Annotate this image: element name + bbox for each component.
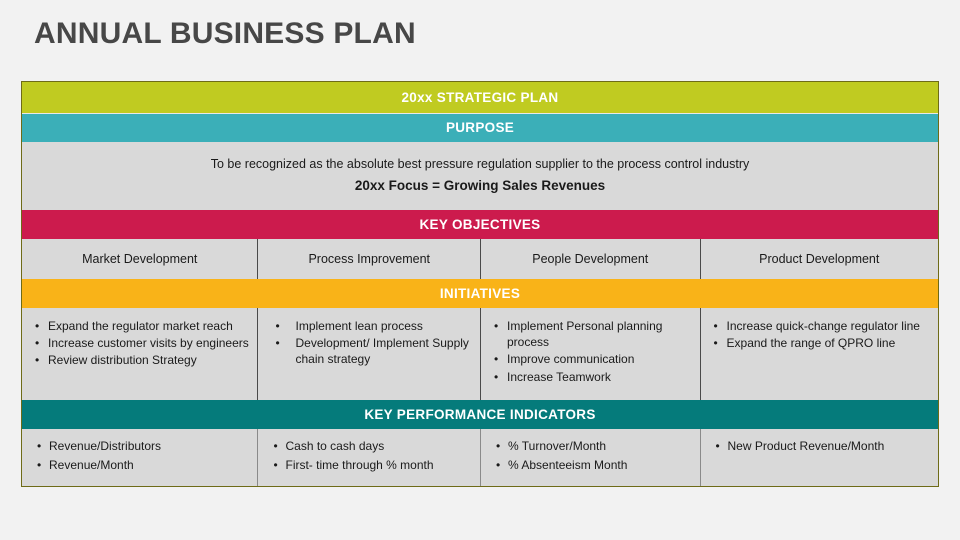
purpose-header: PURPOSE bbox=[22, 114, 938, 142]
list-item: Improve communication bbox=[491, 351, 692, 367]
initiatives-cell-market-development: Expand the regulator market reach Increa… bbox=[22, 308, 258, 400]
initiatives-cell-people-development: Implement Personal planning process Impr… bbox=[481, 308, 701, 400]
list-item: Revenue/Month bbox=[32, 457, 249, 473]
kpi-list-4: New Product Revenue/Month bbox=[711, 438, 930, 454]
list-item: Cash to cash days bbox=[268, 438, 472, 454]
list-item: % Absenteeism Month bbox=[491, 457, 692, 473]
kpi-row: Revenue/Distributors Revenue/Month Cash … bbox=[22, 429, 938, 486]
initiatives-cell-product-development: Increase quick-change regulator line Exp… bbox=[701, 308, 938, 400]
kpi-cell-product-development: New Product Revenue/Month bbox=[701, 429, 938, 486]
page-title: ANNUAL BUSINESS PLAN bbox=[34, 17, 416, 50]
kpi-list-3: % Turnover/Month % Absenteeism Month bbox=[491, 438, 692, 473]
list-item: Increase Teamwork bbox=[491, 369, 692, 385]
list-item: Revenue/Distributors bbox=[32, 438, 249, 454]
key-objectives-row: Market Development Process Improvement P… bbox=[22, 239, 938, 279]
objective-cell-product-development: Product Development bbox=[701, 239, 938, 279]
initiatives-header: INITIATIVES bbox=[22, 279, 938, 308]
key-performance-indicators-header: KEY PERFORMANCE INDICATORS bbox=[22, 400, 938, 429]
list-item: First- time through % month bbox=[268, 457, 472, 473]
list-item: Implement Personal planning process bbox=[491, 318, 692, 350]
objective-cell-process-improvement: Process Improvement bbox=[258, 239, 481, 279]
kpi-cell-market-development: Revenue/Distributors Revenue/Month bbox=[22, 429, 258, 486]
strategic-plan-header: 20xx STRATEGIC PLAN bbox=[22, 82, 938, 114]
list-item: Increase quick-change regulator line bbox=[711, 318, 930, 334]
key-objectives-header: KEY OBJECTIVES bbox=[22, 210, 938, 239]
initiatives-cell-process-improvement: Implement lean process Development/ Impl… bbox=[258, 308, 481, 400]
list-item: Implement lean process bbox=[268, 318, 472, 334]
list-item: Expand the range of QPRO line bbox=[711, 335, 930, 351]
annual-business-plan-table: 20xx STRATEGIC PLAN PURPOSE To be recogn… bbox=[21, 81, 939, 487]
slide-canvas: ANNUAL BUSINESS PLAN 20xx STRATEGIC PLAN… bbox=[0, 0, 960, 540]
initiatives-list-2: Implement lean process Development/ Impl… bbox=[268, 318, 472, 368]
purpose-statement: To be recognized as the absolute best pr… bbox=[42, 155, 918, 174]
initiatives-row: Expand the regulator market reach Increa… bbox=[22, 308, 938, 400]
objective-cell-people-development: People Development bbox=[481, 239, 701, 279]
purpose-focus: 20xx Focus = Growing Sales Revenues bbox=[42, 176, 918, 196]
list-item: Expand the regulator market reach bbox=[32, 318, 249, 334]
list-item: Development/ Implement Supply chain stra… bbox=[268, 335, 472, 367]
list-item: New Product Revenue/Month bbox=[711, 438, 930, 454]
kpi-list-1: Revenue/Distributors Revenue/Month bbox=[32, 438, 249, 473]
list-item: Increase customer visits by engineers bbox=[32, 335, 249, 351]
initiatives-list-1: Expand the regulator market reach Increa… bbox=[32, 318, 249, 369]
initiatives-list-4: Increase quick-change regulator line Exp… bbox=[711, 318, 930, 351]
list-item: Review distribution Strategy bbox=[32, 352, 249, 368]
initiatives-list-3: Implement Personal planning process Impr… bbox=[491, 318, 692, 385]
kpi-list-2: Cash to cash days First- time through % … bbox=[268, 438, 472, 473]
objective-cell-market-development: Market Development bbox=[22, 239, 258, 279]
kpi-cell-process-improvement: Cash to cash days First- time through % … bbox=[258, 429, 481, 486]
purpose-body: To be recognized as the absolute best pr… bbox=[22, 142, 938, 210]
kpi-cell-people-development: % Turnover/Month % Absenteeism Month bbox=[481, 429, 701, 486]
list-item: % Turnover/Month bbox=[491, 438, 692, 454]
